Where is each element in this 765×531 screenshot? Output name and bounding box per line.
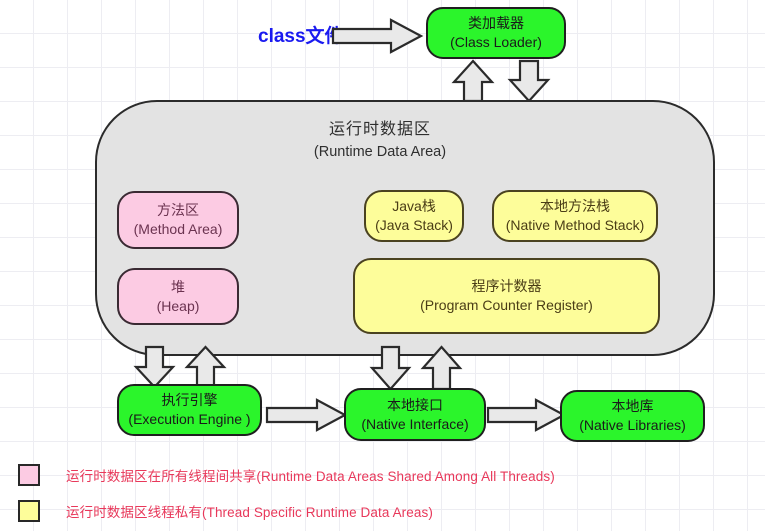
node-execution-engine[interactable]: 执行引擎 (Execution Engine ) <box>117 384 262 436</box>
node-class-loader[interactable]: 类加载器 (Class Loader) <box>426 7 566 59</box>
node-program-counter-register[interactable]: 程序计数器 (Program Counter Register) <box>353 258 660 334</box>
node-method-area-label-en: (Method Area) <box>134 221 223 238</box>
runtime-data-area-title-cn: 运行时数据区 <box>329 115 431 139</box>
arrow-up-native-interface-to-runtime <box>421 347 463 391</box>
node-execution-engine-label-cn: 执行引擎 <box>162 392 218 409</box>
arrow-execution-engine-to-native-interface <box>265 398 347 432</box>
node-native-libraries-label-cn: 本地库 <box>612 398 654 415</box>
node-heap-label-cn: 堆 <box>171 279 185 296</box>
arrow-down-runtime-to-native-interface <box>370 347 412 391</box>
node-method-area-label-cn: 方法区 <box>157 202 199 219</box>
node-execution-engine-label-en: (Execution Engine ) <box>128 411 250 428</box>
node-java-stack-label-en: (Java Stack) <box>375 217 453 234</box>
arrow-classfile-to-classloader <box>331 18 423 54</box>
arrow-native-interface-to-native-libraries <box>486 398 566 432</box>
runtime-data-area-title: 运行时数据区 (Runtime Data Area) <box>255 115 505 160</box>
node-java-stack-label-cn: Java栈 <box>392 198 436 215</box>
node-native-method-stack-label-cn: 本地方法栈 <box>540 198 610 215</box>
node-heap[interactable]: 堆 (Heap) <box>117 268 239 325</box>
node-native-method-stack[interactable]: 本地方法栈 (Native Method Stack) <box>492 190 658 242</box>
node-program-counter-register-label-en: (Program Counter Register) <box>420 297 593 314</box>
legend-row-shared: 运行时数据区在所有线程间共享(Runtime Data Areas Shared… <box>18 464 555 486</box>
arrow-up-runtime-to-classloader <box>452 59 496 103</box>
legend-row-private: 运行时数据区线程私有(Thread Specific Runtime Data … <box>18 500 433 522</box>
node-native-libraries-label-en: (Native Libraries) <box>579 417 686 434</box>
node-heap-label-en: (Heap) <box>157 298 200 315</box>
legend-swatch-private <box>18 500 40 522</box>
node-native-method-stack-label-en: (Native Method Stack) <box>506 217 645 234</box>
legend-swatch-shared <box>18 464 40 486</box>
node-program-counter-register-label-cn: 程序计数器 <box>472 278 542 295</box>
legend-label-private: 运行时数据区线程私有(Thread Specific Runtime Data … <box>66 501 433 521</box>
node-native-interface-label-en: (Native Interface) <box>361 416 468 433</box>
node-method-area[interactable]: 方法区 (Method Area) <box>117 191 239 249</box>
arrow-down-runtime-to-execution-engine <box>134 347 176 389</box>
runtime-data-area-title-en: (Runtime Data Area) <box>314 144 446 160</box>
node-native-interface[interactable]: 本地接口 (Native Interface) <box>344 388 486 441</box>
arrow-up-execution-engine-to-runtime <box>185 347 227 389</box>
node-java-stack[interactable]: Java栈 (Java Stack) <box>364 190 464 242</box>
jvm-architecture-diagram: class文件 类加载器 (Class Loader) 运行时数据区 (Runt… <box>0 0 765 531</box>
node-native-libraries[interactable]: 本地库 (Native Libraries) <box>560 390 705 442</box>
arrow-down-classloader-to-runtime <box>508 59 552 103</box>
legend-label-shared: 运行时数据区在所有线程间共享(Runtime Data Areas Shared… <box>66 465 555 485</box>
node-class-loader-label-cn: 类加载器 <box>468 15 524 32</box>
node-class-loader-label-en: (Class Loader) <box>450 34 542 51</box>
node-native-interface-label-cn: 本地接口 <box>387 397 443 414</box>
